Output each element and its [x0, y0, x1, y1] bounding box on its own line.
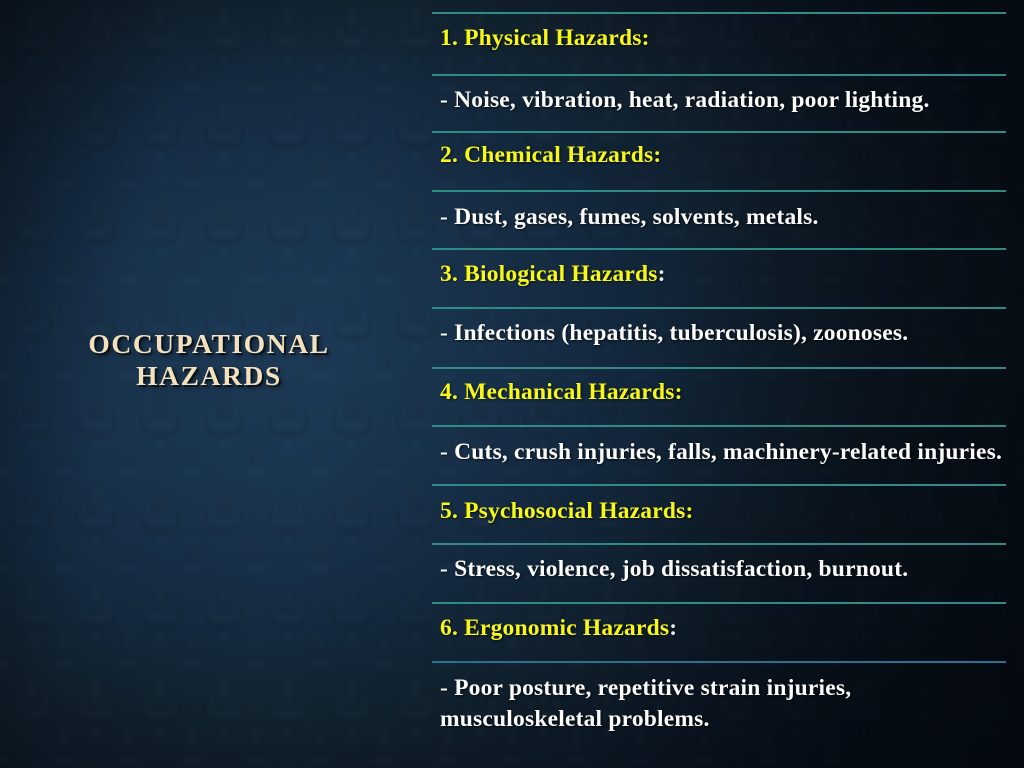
separator-rule-2	[432, 74, 1006, 76]
hazard-body-6: - Poor posture, repetitive strain injuri…	[440, 673, 1006, 735]
separator-rule-9	[432, 484, 1006, 486]
hazard-body-5: - Stress, violence, job dissatisfaction,…	[440, 554, 1006, 585]
hazard-body-4: - Cuts, crush injuries, falls, machinery…	[440, 437, 1006, 468]
separator-rule-1	[432, 12, 1006, 14]
separator-rule-11	[432, 602, 1006, 604]
slide-title-block: Occupational Hazards	[0, 328, 418, 393]
hazard-heading-1: 1. Physical Hazards:	[440, 23, 1006, 54]
hazard-heading-4: 4. Mechanical Hazards:	[440, 377, 1006, 408]
separator-rule-7	[432, 367, 1006, 369]
hazard-body-2: - Dust, gases, fumes, solvents, metals.	[440, 202, 1006, 233]
hazard-list: 1. Physical Hazards: - Noise, vibration,…	[430, 0, 1024, 768]
separator-rule-5	[432, 248, 1006, 250]
hazard-body-3: - Infections (hepatitis, tuberculosis), …	[440, 318, 1006, 349]
separator-rule-10	[432, 543, 1006, 545]
hazard-heading-3: 3. Biological Hazards:	[440, 259, 1006, 290]
separator-rule-4	[432, 190, 1006, 192]
hazard-heading-2: 2. Chemical Hazards:	[440, 140, 1006, 171]
separator-rule-3	[432, 131, 1006, 133]
separator-rule-8	[432, 425, 1006, 427]
hazard-heading-6: 6. Ergonomic Hazards:	[440, 613, 1006, 644]
heading-colon: :	[658, 261, 666, 287]
hazard-body-1: - Noise, vibration, heat, radiation, poo…	[440, 85, 1006, 116]
separator-rule-12	[432, 661, 1006, 663]
separator-rule-6	[432, 307, 1006, 309]
page-title: Occupational Hazards	[0, 328, 418, 393]
hazard-heading-5: 5. Psychosocial Hazards:	[440, 496, 1006, 527]
slide-canvas: Occupational Hazards 1. Physical Hazards…	[0, 0, 1024, 768]
heading-colon: :	[669, 615, 677, 641]
